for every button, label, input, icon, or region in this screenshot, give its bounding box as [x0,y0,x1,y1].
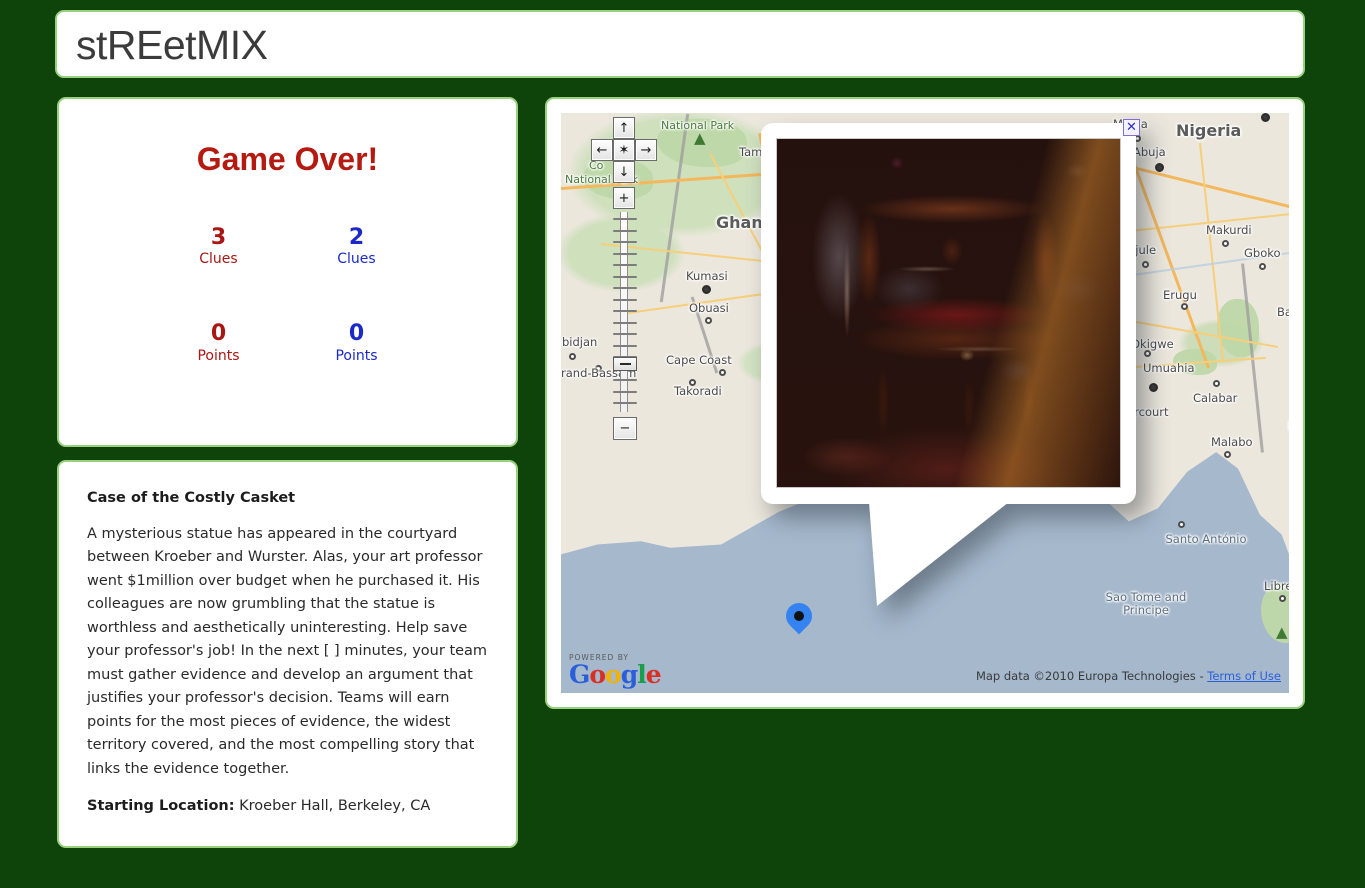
zoom-slider-track[interactable] [620,212,628,412]
zoom-tick [613,276,637,278]
zoom-tick [613,230,637,232]
zoom-tick [613,241,637,243]
park-tree-icon: ▲ [694,129,706,147]
city-dot [1155,163,1164,172]
zoom-tick [613,391,637,393]
game-over-status: Game Over! [59,141,516,178]
info-window-bubble: ✕ [761,123,1136,504]
blue-team-points: 0 Points [288,322,426,364]
zoom-tick [613,402,637,404]
zoom-tick [613,379,637,381]
close-icon[interactable]: ✕ [1123,119,1140,136]
city-dot [1142,261,1149,268]
blue-team-clues-label: Clues [288,250,426,268]
blue-team-points-label: Points [288,347,426,365]
score-panel: Game Over! 3 Clues 0 Points 2 Clues 0 [57,97,518,447]
zoom-tick [613,218,637,220]
city-dot [705,317,712,324]
red-team-points: 0 Points [150,322,288,364]
park-tree-icon: ▲ [1276,623,1288,641]
score-grid: 3 Clues 0 Points 2 Clues 0 Points [59,226,516,419]
blue-team-points-value: 0 [288,322,426,346]
pan-left-button[interactable]: ← [591,139,613,161]
map-attribution: Map data ©2010 Europa Technologies - Ter… [976,669,1281,683]
city-dot [569,353,576,360]
city-dot [1213,380,1220,387]
blue-team-clues-value: 2 [288,226,426,250]
info-window-tail [869,502,1019,612]
blue-marker-pin [781,598,818,635]
starting-location-value: Kroeber Hall, Berkeley, CA [239,798,430,814]
city-dot [1144,350,1151,357]
map-canvas[interactable]: ▲ ▲ National ParkNational ParkCoGhanaTam… [561,113,1289,693]
zoom-tick [613,333,637,335]
story-panel: Case of the Costly Casket A mysterious s… [57,460,518,848]
header-panel: stREetMIX [55,10,1305,78]
city-dot [719,369,726,376]
city-dot [1224,451,1231,458]
city-dot [702,285,711,294]
zoom-out-button[interactable]: − [613,417,637,440]
red-team-points-value: 0 [150,322,288,346]
red-team-clues-value: 3 [150,226,288,250]
city-dot [1279,595,1286,602]
pan-up-button[interactable]: ↑ [613,117,635,139]
zoom-tick [613,310,637,312]
case-description: A mysterious statue has appeared in the … [87,523,488,781]
city-dot [689,379,696,386]
pan-down-button[interactable]: ↓ [613,161,635,183]
red-team-scores: 3 Clues 0 Points [150,226,288,419]
blue-team-scores: 2 Clues 0 Points [288,226,426,419]
terms-of-use-link[interactable]: Terms of Use [1207,669,1281,683]
starting-location-label: Starting Location: [87,798,235,814]
starting-location: Starting Location: Kroeber Hall, Berkele… [87,798,488,814]
case-title: Case of the Costly Casket [87,490,488,506]
pan-right-button[interactable]: → [635,139,657,161]
city-dot [595,365,602,372]
blue-marker[interactable] [786,603,812,639]
map-attribution-text: Map data ©2010 Europa Technologies - [976,669,1207,683]
center-map-icon[interactable]: ✶ [613,139,635,161]
clue-photo[interactable] [776,138,1121,488]
city-dot [1222,240,1229,247]
zoom-tick [613,264,637,266]
city-dot [1259,263,1266,270]
page-title: stREetMIX [57,12,1303,69]
city-dot [1181,303,1188,310]
zoom-in-button[interactable]: + [613,187,635,209]
city-dot [1149,383,1158,392]
zoom-slider-handle[interactable] [613,357,637,371]
zoom-tick [613,253,637,255]
zoom-tick [613,345,637,347]
city-dot [1261,113,1270,122]
zoom-tick [613,299,637,301]
map-panel: ▲ ▲ National ParkNational ParkCoGhanaTam… [545,97,1305,709]
zoom-tick [613,322,637,324]
app-root: stREetMIX Game Over! 3 Clues 0 Points 2 … [0,0,1365,888]
zoom-tick [613,287,637,289]
blue-team-clues: 2 Clues [288,226,426,268]
red-team-points-label: Points [150,347,288,365]
map-info-window: ✕ [761,123,1136,504]
city-dot [1178,521,1185,528]
red-team-clues-label: Clues [150,250,288,268]
google-logo: POWERED BY Google [569,654,661,688]
red-team-clues: 3 Clues [150,226,288,268]
google-wordmark: Google [569,662,661,687]
